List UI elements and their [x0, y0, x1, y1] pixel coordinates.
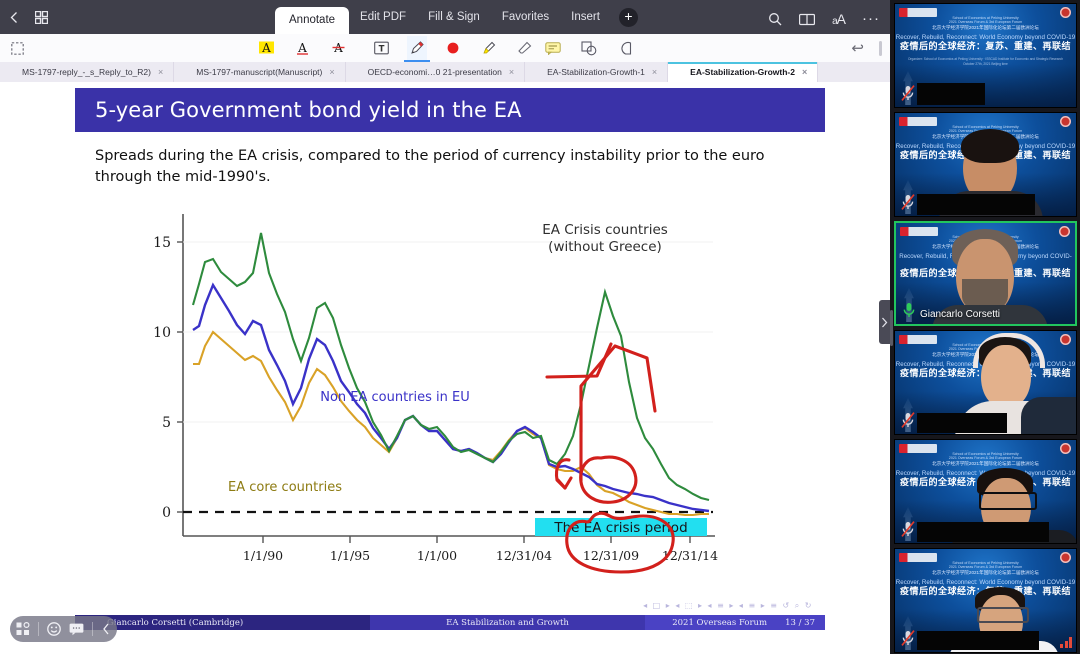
video-tile-6[interactable]: School of Economics at Peking University… [894, 548, 1077, 653]
doc-tab-5[interactable]: EA-Stabilization-Growth-2 × [668, 62, 818, 82]
network-quality-icon [1060, 637, 1072, 648]
beamer-nav-glyphs[interactable]: ◂ □ ▸ ◂ ⬚ ▸ ◂ ≡ ▸ ◂ ≡ ▸ ≡ ↺ ⌕ ↻ [643, 601, 813, 611]
banner-org-en-2: 2021 Overseas Forum & 3rd European Forum [895, 565, 1076, 569]
sticky-note-tool[interactable] [543, 36, 563, 60]
annotation-ea-core: EA core countries [228, 480, 342, 495]
doc-tab-label: MS-1797-manuscript(Manuscript) [196, 67, 322, 77]
y-tick-0: 0 [162, 505, 171, 521]
close-icon[interactable]: × [652, 67, 657, 77]
drawing-tools: T [371, 36, 535, 60]
shapes-tool[interactable] [579, 36, 599, 60]
banner-org-en-2: 2021 Overseas Forum & 3rd European Forum [895, 456, 1076, 460]
bond-yield-chart: 15 10 5 0 [135, 206, 735, 586]
chat-bubble-icon[interactable] [69, 623, 84, 636]
participant-filmstrip: School of Economics at Peking University… [890, 0, 1080, 654]
svg-text:A: A [297, 41, 307, 55]
slide-body-text: Spreads during the EA crisis, compared t… [95, 146, 795, 188]
video-tile-5[interactable]: School of Economics at Peking University… [894, 439, 1077, 544]
x-tick-2: 1/1/95 [330, 548, 370, 563]
page-title: 5-year Government bond yield in the EA [75, 88, 825, 132]
apps-grid-icon[interactable] [16, 622, 30, 636]
doc-tab-label: MS-1797-reply_-_s_Reply_to_R2) [22, 67, 151, 77]
collapse-chevron-left-icon[interactable] [101, 623, 111, 635]
participant-hair [961, 129, 1019, 163]
banner-org-en-2: 2021 Overseas Forum & 3rd European Forum [895, 20, 1076, 24]
toolbar-scrollbar[interactable] [879, 41, 882, 56]
annotation-ea-crisis-line1: EA Crisis countries [542, 222, 668, 238]
color-swatch-red[interactable] [443, 36, 463, 60]
text-box-tool[interactable]: T [371, 36, 391, 60]
mode-tabs: Annotate Edit PDF Fill & Sign Favorites … [275, 0, 644, 34]
annotation-non-ea: Non EA countries in EU [320, 390, 470, 405]
mic-muted-icon [900, 520, 916, 538]
emoji-reaction-icon[interactable] [47, 622, 61, 636]
tab-fill-sign[interactable]: Fill & Sign [417, 0, 491, 34]
pen-tool[interactable] [407, 36, 427, 60]
name-redaction-bar [917, 83, 985, 105]
doc-tab-4[interactable]: EA-Stabilization-Growth-1 × [525, 62, 668, 82]
active-tab-accent [668, 62, 817, 64]
footer-event: 2021 Overseas Forum [672, 618, 767, 628]
more-options-icon[interactable]: ··· [862, 15, 880, 23]
doc-tab-label: EA-Stabilization-Growth-1 [547, 67, 645, 77]
text-size-icon[interactable]: aA [832, 11, 845, 27]
footer-page-number: 13 / 37 [785, 618, 815, 628]
underline-text-tool[interactable]: A [292, 36, 312, 60]
x-tick-5: 12/31/09 [583, 548, 639, 563]
x-tick-1: 1/1/90 [243, 548, 283, 563]
name-redaction-bar [917, 522, 1049, 542]
close-icon[interactable]: × [329, 67, 334, 77]
video-tile-2[interactable]: School of Economics at Peking University… [894, 112, 1077, 217]
tab-insert[interactable]: Insert [560, 0, 611, 34]
banner-org-cn: 北京大学经济学院2021年国际化论坛第二届欧洲论坛 [895, 25, 1076, 31]
banner-title-cn: 疫情后的全球经济：复苏、重建、再联结 [895, 41, 1076, 52]
tab-edit-pdf[interactable]: Edit PDF [349, 0, 417, 34]
grid-apps-icon[interactable] [35, 11, 48, 24]
reaction-toolbar [10, 616, 117, 642]
x-tick-4: 12/31/04 [496, 548, 552, 563]
app-header: Annotate Edit PDF Fill & Sign Favorites … [0, 0, 890, 34]
text-markup-tools: A A A [256, 36, 348, 60]
doc-tab-2[interactable]: MS-1797-manuscript(Manuscript) × [174, 62, 345, 82]
select-area-icon[interactable] [11, 42, 24, 55]
annotation-ea-crisis-line2: (without Greece) [548, 239, 662, 255]
video-tile-4[interactable]: School of Economics at Peking University… [894, 330, 1077, 435]
doc-tab-1[interactable]: MS-1797-reply_-_s_Reply_to_R2) × [0, 62, 174, 82]
slide-footer: Giancarlo Corsetti (Cambridge) EA Stabil… [75, 615, 825, 630]
y-tick-10: 10 [153, 325, 171, 341]
footer-talk-title: EA Stabilization and Growth [370, 615, 645, 630]
series-ea-crisis [193, 233, 709, 500]
zoom-screen-share-window: Annotate Edit PDF Fill & Sign Favorites … [0, 0, 1080, 654]
banner-text: School of Economics at Peking University… [895, 16, 1076, 66]
red-arrow-down-head [558, 478, 571, 488]
pdf-viewer: Annotate Edit PDF Fill & Sign Favorites … [0, 0, 890, 654]
y-tick-15: 15 [153, 235, 171, 251]
annotation-object-tools [543, 36, 635, 60]
footer-event-and-page: 2021 Overseas Forum 13 / 37 [645, 615, 825, 630]
filmstrip-collapse-button[interactable] [879, 300, 890, 344]
search-icon[interactable] [768, 12, 782, 26]
mic-muted-icon [900, 411, 916, 429]
name-redaction-bar [917, 413, 1007, 433]
tab-favorites[interactable]: Favorites [491, 0, 560, 34]
reading-mode-icon[interactable] [799, 13, 815, 26]
video-tile-3-active-speaker[interactable]: School of Economics at Peking University… [894, 221, 1077, 326]
annotate-toolbar: A A A T [0, 34, 890, 63]
mic-muted-icon [900, 193, 916, 211]
svg-text:A: A [261, 41, 271, 55]
mic-muted-icon [900, 629, 916, 647]
slide: 5-year Government bond yield in the EA S… [75, 88, 825, 640]
svg-text:T: T [378, 45, 384, 55]
red-ellipse-small [581, 457, 636, 502]
highlighter-tool[interactable] [479, 36, 499, 60]
undo-icon[interactable]: ↩ [851, 39, 864, 57]
name-redaction-bar [917, 631, 1039, 650]
footer-author: Giancarlo Corsetti (Cambridge) [75, 615, 370, 630]
x-tick-3: 1/1/00 [417, 548, 457, 563]
divider [38, 622, 39, 636]
document-tab-strip: MS-1797-reply_-_s_Reply_to_R2) × MS-1797… [0, 62, 890, 82]
participant-jacket [1021, 397, 1077, 435]
name-redaction-bar [917, 194, 1035, 215]
doc-tab-3[interactable]: OECD-economi…0 21-presentation × [346, 62, 525, 82]
participant-name: Giancarlo Corsetti [920, 309, 1000, 320]
filmstrip-scrollbar[interactable] [890, 310, 893, 346]
pdf-page-area[interactable]: 5-year Government bond yield in the EA S… [0, 82, 890, 654]
participant-face [981, 345, 1031, 407]
mic-active-icon [901, 301, 917, 319]
participant-glasses [979, 492, 1037, 510]
tab-annotate[interactable]: Annotate [275, 7, 349, 34]
video-tile-1[interactable]: School of Economics at Peking University… [894, 3, 1077, 108]
y-tick-5: 5 [162, 415, 171, 431]
stamp-tool[interactable] [615, 36, 635, 60]
red-arrow-up-curve [581, 346, 655, 432]
back-chevron-icon[interactable] [8, 11, 21, 24]
highlight-text-tool[interactable]: A [256, 36, 276, 60]
doc-tab-label: OECD-economi…0 21-presentation [368, 67, 502, 77]
divider [92, 622, 93, 636]
add-tab-button[interactable]: + [619, 8, 638, 27]
close-icon[interactable]: × [158, 67, 163, 77]
eraser-tool[interactable] [515, 36, 535, 60]
banner-fineprint: Organizer: School of Economics at Peking… [895, 57, 1076, 67]
participant-glasses [977, 607, 1029, 623]
doc-tab-label: EA-Stabilization-Growth-2 [690, 67, 795, 77]
mic-muted-icon [900, 84, 916, 102]
close-icon[interactable]: × [802, 67, 807, 77]
banner-org-cn: 北京大学经济学院2021年国际化论坛第二届欧洲论坛 [895, 570, 1076, 576]
banner-org-cn: 北京大学经济学院2021年国际化论坛第二届欧洲论坛 [895, 461, 1076, 467]
strikethrough-text-tool[interactable]: A [328, 36, 348, 60]
close-icon[interactable]: × [509, 67, 514, 77]
